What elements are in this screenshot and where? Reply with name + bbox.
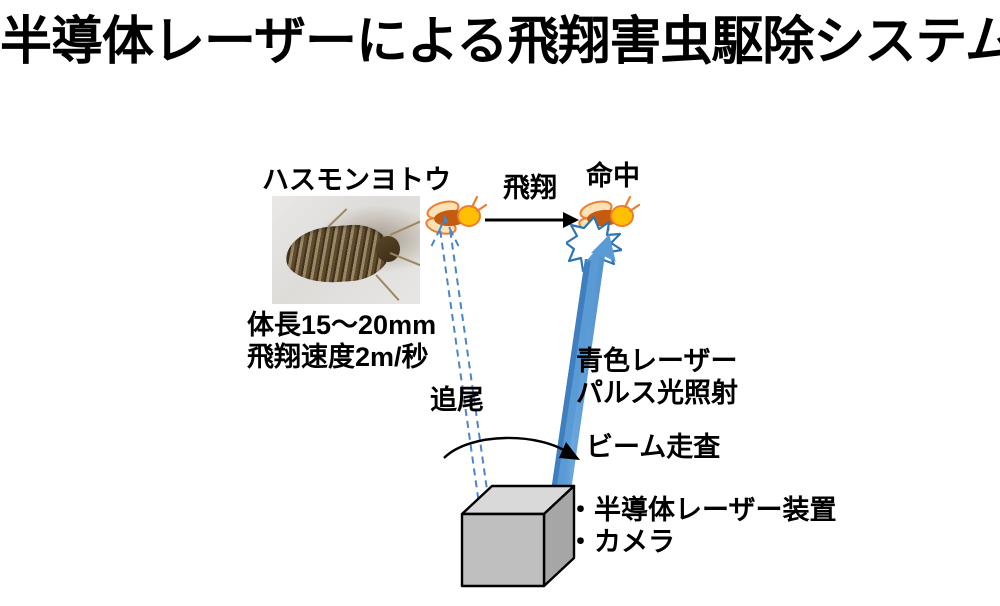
flight-label: 飛翔 — [503, 173, 557, 205]
laser-label-line1: 青色レーザー — [576, 346, 738, 378]
moth-head — [376, 236, 400, 262]
moth-flight-speed: 飛翔速度2m/秒 — [247, 342, 436, 374]
device-box-icon — [460, 484, 576, 593]
page-title: 半導体レーザーによる飛翔害虫駆除システム — [0, 14, 1000, 71]
moth-photograph — [272, 196, 420, 304]
tracking-label: 追尾 — [430, 385, 484, 417]
moth-leg-icon — [375, 274, 399, 301]
laser-label-line2: パルス光照射 — [576, 378, 738, 410]
moth-body-length: 体長15〜20mm — [247, 310, 436, 342]
moth-specs: 体長15〜20mm 飛翔速度2m/秒 — [247, 310, 436, 374]
device-label-line2: ・カメラ — [567, 527, 836, 559]
moth-antenna-icon — [390, 219, 420, 235]
laser-label: 青色レーザー パルス光照射 — [576, 346, 738, 410]
moth-name-caption: ハスモンヨトウ — [262, 165, 451, 197]
arc-arrow-icon — [440, 428, 590, 473]
slide-canvas: 半導体レーザーによる飛翔害虫駆除システム ハスモンヨトウ 体長15〜20mm 飛… — [0, 0, 1000, 606]
device-label: ・半導体レーザー装置 ・カメラ — [567, 495, 836, 559]
beam-scan-label: ビーム走査 — [586, 432, 720, 464]
moth-antenna-icon — [390, 252, 420, 269]
hit-label: 命中 — [586, 161, 640, 193]
device-label-line1: ・半導体レーザー装置 — [567, 495, 836, 527]
